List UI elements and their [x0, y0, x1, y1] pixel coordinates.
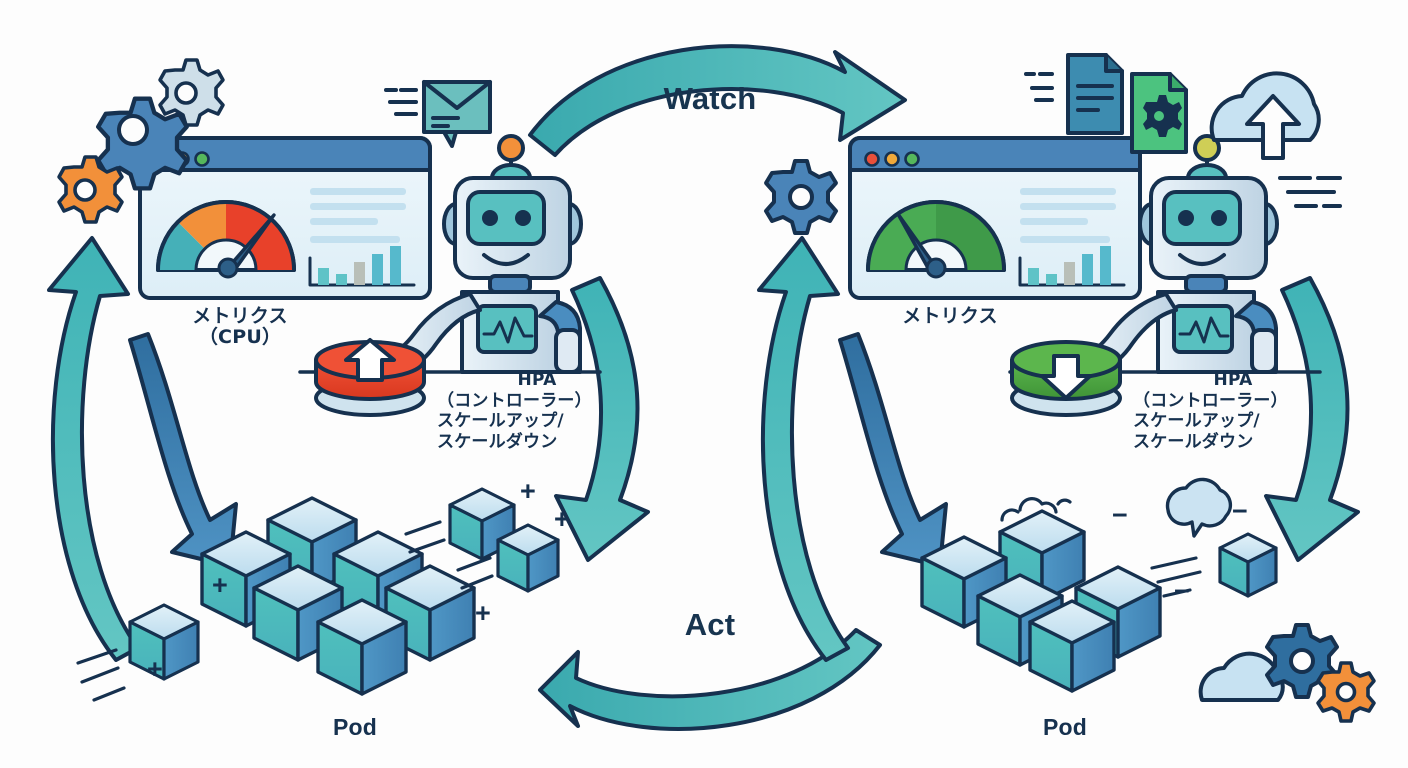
act-label: Act	[620, 608, 800, 643]
minus-sign-near-puff: −	[1112, 502, 1128, 529]
right-hpa-line2: （コントローラー）	[1133, 391, 1333, 412]
left-hpa-label: HPA （コントローラー） スケールアップ/ スケールダウン	[437, 370, 637, 453]
watch-label: Watch	[620, 82, 800, 117]
document-gear-icon	[1132, 74, 1186, 152]
window-dot-green	[906, 153, 919, 166]
plus-sign-mid: +	[554, 506, 570, 533]
gear-icon-orange-bottom	[1318, 663, 1374, 721]
robot-neck	[1186, 276, 1226, 292]
speed-lines-cloud	[1280, 178, 1340, 206]
scale-up-button[interactable]	[316, 340, 424, 415]
diagram-canvas: Watch Act メトリクス （CPU） メトリクス HPA （コントローラー…	[0, 0, 1408, 768]
robot-neck	[490, 276, 530, 292]
right-hpa-line4: スケールダウン	[1133, 432, 1333, 453]
left-metrics-label-line1: メトリクス	[130, 306, 350, 327]
plus-sign-cluster: +	[212, 572, 228, 599]
left-hpa-line4: スケールダウン	[437, 432, 637, 453]
minus-sign-near-cloud: −	[1232, 498, 1248, 525]
window-dot-amber	[886, 153, 899, 166]
document-icon	[1068, 55, 1122, 133]
left-metrics-label: メトリクス （CPU）	[130, 306, 350, 349]
right-pod-label: Pod	[985, 715, 1145, 741]
robot-antenna-light	[499, 136, 523, 160]
window-dot-green	[196, 153, 209, 166]
right-metrics-feedback-arrow	[759, 238, 848, 660]
right-hpa-line1: HPA	[1133, 370, 1333, 391]
left-hpa-line2: （コントローラー）	[437, 391, 637, 412]
left-metrics-label-line2: （CPU）	[130, 327, 350, 348]
speed-lines-right	[1026, 74, 1052, 100]
right-metrics-dashboard	[850, 138, 1140, 298]
left-pod-label: Pod	[275, 715, 435, 741]
left-metrics-feedback-arrow	[49, 238, 138, 660]
plus-sign-low: +	[475, 600, 491, 627]
speed-lines	[386, 90, 416, 114]
right-scale-action-arrow	[840, 334, 946, 566]
window-dot-red	[866, 153, 879, 166]
left-pod-cluster	[202, 498, 474, 694]
gear-icon-mid	[766, 161, 836, 233]
right-metrics-label-line1: メトリクス	[840, 306, 1060, 327]
robot-chest-monitor	[478, 306, 536, 352]
minus-sign-trail: −	[1174, 578, 1190, 605]
plus-sign-top: +	[520, 478, 536, 505]
departing-pod-cube	[1152, 534, 1276, 596]
robot-screen-face	[468, 192, 544, 244]
plus-sign-incoming: +	[147, 656, 163, 683]
robot-screen-face	[1164, 192, 1240, 244]
gear-icon-small-gray	[160, 60, 223, 125]
pod-cube	[318, 600, 406, 694]
left-hpa-line3: スケールアップ/	[437, 411, 637, 432]
right-hpa-line3: スケールアップ/	[1133, 411, 1333, 432]
robot-chest-monitor	[1174, 306, 1232, 352]
scale-down-button[interactable]	[1012, 342, 1120, 415]
dust-cloud-icon	[1168, 479, 1231, 536]
right-metrics-label: メトリクス	[840, 306, 1060, 327]
right-pod-cluster	[922, 511, 1160, 691]
left-hpa-line1: HPA	[437, 370, 637, 391]
right-hpa-label: HPA （コントローラー） スケールアップ/ スケールダウン	[1133, 370, 1333, 453]
left-scale-action-arrow	[130, 334, 236, 566]
pod-cube	[1030, 601, 1114, 691]
